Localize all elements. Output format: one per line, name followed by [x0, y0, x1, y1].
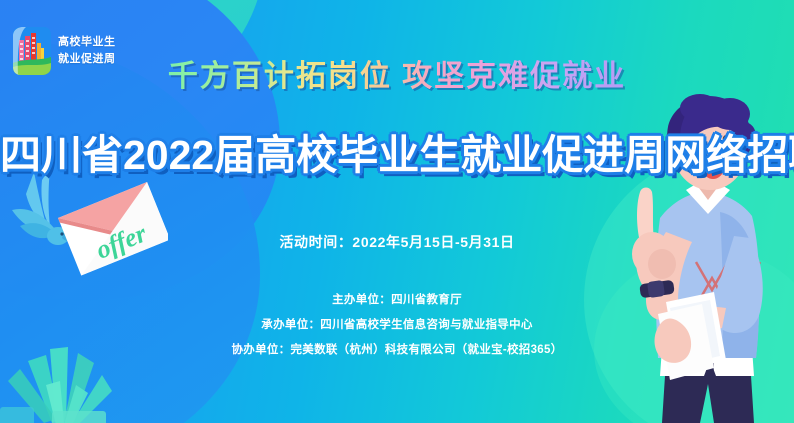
- banner-headline: 千方百计拓岗位 攻坚克难促就业: [0, 62, 794, 92]
- organizer-line-coorganizer: 协办单位：完美数联（杭州）科技有限公司（就业宝-校招365）: [231, 341, 562, 357]
- organizer-line-operator: 承办单位：四川省高校学生信息咨询与就业指导中心: [261, 316, 532, 332]
- logo-line-1: 高校毕业生: [58, 34, 116, 51]
- offer-envelope-icon: offer: [58, 182, 168, 275]
- event-date-line: 活动时间：2022年5月15日-5月31日: [0, 232, 794, 252]
- recruitment-banner: 高校毕业生 就业促进周 千方百计拓岗位 攻坚克难促就业 四川省2022届高校毕业…: [0, 0, 794, 423]
- organizer-block: 主办单位：四川省教育厅 承办单位：四川省高校学生信息咨询与就业指导中心 协办单位…: [0, 291, 794, 357]
- organizer-line-host: 主办单位：四川省教育厅: [332, 291, 462, 307]
- banner-headline-text: 千方百计拓岗位 攻坚克难促就业: [168, 60, 626, 93]
- banner-main-title: 四川省2022届高校毕业生就业促进周网络招聘活动: [0, 133, 794, 178]
